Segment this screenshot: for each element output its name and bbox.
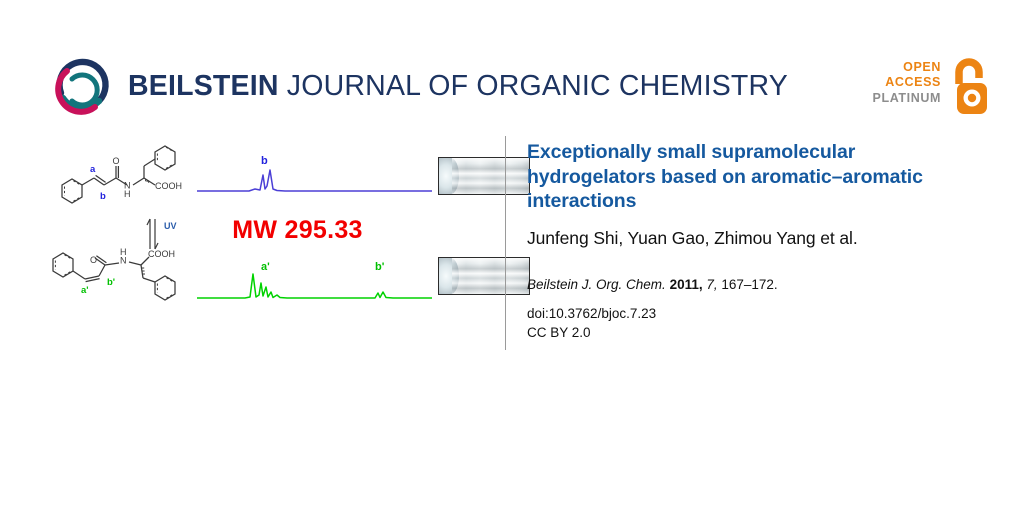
uv-label: UV: [164, 221, 177, 231]
citation-volume: 7,: [703, 277, 718, 292]
article-doi[interactable]: doi:10.3762/bjoc.7.23: [527, 306, 967, 321]
masthead: BEILSTEIN JOURNAL OF ORGANIC CHEMISTRY O…: [0, 0, 1024, 132]
inverted-vial-photo-top: [438, 157, 530, 195]
cis-cinnamoyl-phenylalanine-structure: O N H COOH a' b': [45, 245, 200, 317]
article-license[interactable]: CC BY 2.0: [527, 325, 967, 340]
article-info: Exceptionally small supramolecular hydro…: [527, 140, 967, 340]
citation-pages: 167–172.: [718, 277, 778, 292]
citation-year: 2011,: [670, 277, 703, 292]
beilstein-spiral-logo-icon: [52, 57, 114, 119]
nmr-peak-label-b-prime: b': [375, 261, 385, 273]
inverted-vial-photo-bottom: [438, 257, 530, 295]
group-label-cooh: COOH: [148, 249, 175, 259]
atom-label-o: O: [113, 156, 120, 166]
open-access-unlocked-padlock-icon: [945, 58, 993, 116]
citation-journal: Beilstein J. Org. Chem.: [527, 277, 666, 292]
atom-label-h: H: [124, 189, 131, 199]
vinyl-label-a-prime: a': [81, 285, 89, 296]
article-authors: Junfeng Shi, Yuan Gao, Zhimou Yang et al…: [527, 228, 967, 249]
graphical-abstract: O N H COOH a b UV: [40, 140, 500, 320]
atom-label-n: N: [120, 256, 127, 266]
nmr-peak-label-b: b: [261, 155, 268, 167]
open-access-text: OPEN ACCESS PLATINUM: [873, 60, 941, 106]
nmr-spectrum-cis: a' b': [197, 252, 432, 307]
column-divider: [505, 136, 506, 350]
nmr-spectrum-trans: b: [197, 145, 432, 200]
open-access-badge[interactable]: OPEN ACCESS PLATINUM: [873, 58, 993, 120]
atom-label-h: H: [120, 247, 127, 257]
atom-label-o: O: [90, 255, 97, 265]
journal-wordmark: BEILSTEIN JOURNAL OF ORGANIC CHEMISTRY: [128, 70, 788, 103]
wordmark-light: JOURNAL OF ORGANIC CHEMISTRY: [279, 70, 788, 102]
vial-image-gel: [438, 157, 530, 195]
article-title[interactable]: Exceptionally small supramolecular hydro…: [527, 140, 967, 214]
vinyl-label-b-prime: b': [107, 277, 115, 288]
vinyl-label-b: b: [100, 191, 106, 202]
trans-cinnamoyl-phenylalanine-structure: O N H COOH a b: [50, 145, 200, 217]
group-label-cooh: COOH: [155, 181, 182, 191]
vinyl-label-a: a: [90, 164, 96, 175]
vial-image-solution: [438, 257, 530, 295]
article-citation: Beilstein J. Org. Chem. 2011, 7, 167–172…: [527, 277, 967, 292]
oa-line-platinum: PLATINUM: [873, 91, 941, 106]
oa-line-access: ACCESS: [873, 75, 941, 90]
molecular-weight-label: MW 295.33: [200, 216, 395, 245]
wordmark-bold: BEILSTEIN: [128, 70, 279, 102]
nmr-peak-label-a-prime: a': [261, 261, 270, 273]
oa-line-open: OPEN: [873, 60, 941, 75]
